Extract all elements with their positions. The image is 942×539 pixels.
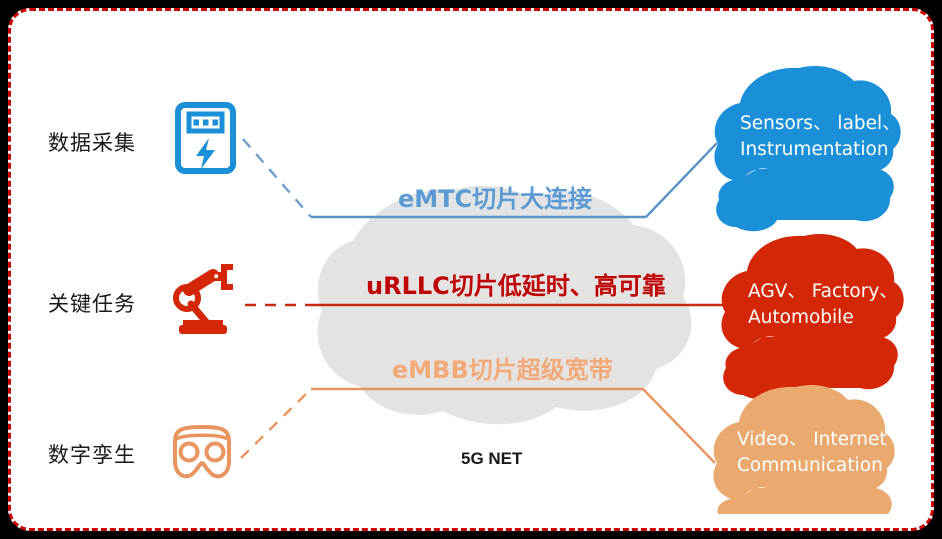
row-label-digital-twin: 数字孪生 [48, 439, 136, 469]
connector-angle-0 [646, 143, 717, 217]
slice-label-urllc: uRLLC切片低延时、高可靠 [366, 266, 666, 301]
lightning-bolt [196, 138, 215, 169]
center-network-label: 5G NET [461, 449, 522, 469]
cloud-text-sensors: Sensors、 label、 Instrumentation [740, 111, 920, 164]
robot-base [179, 325, 227, 334]
diagram-canvas: 数据采集 关键任务 数字孪生 [11, 11, 931, 528]
robot-upper-arm [189, 275, 213, 290]
meter-dot-3 [213, 120, 219, 126]
robot-joint-hole [215, 275, 219, 279]
cloud-text-agv: AGV、 Factory、 Automobile [748, 279, 928, 332]
meter-dot-1 [194, 120, 200, 126]
row-label-critical-task: 关键任务 [48, 288, 136, 318]
row-label-data-collection: 数据采集 [48, 127, 136, 157]
connector-dashed-0 [243, 139, 311, 217]
robot-arm-icon [169, 263, 241, 339]
slide-canvas: 数据采集 关键任务 数字孪生 [8, 8, 934, 531]
right-cloud-shape-0b [716, 169, 894, 231]
robot-gripper [224, 267, 233, 287]
vr-lens-left [181, 444, 198, 461]
meter-lightning-icon [171, 101, 243, 177]
slice-label-emtc: eMTC切片大连接 [398, 179, 592, 214]
vr-strap [176, 435, 228, 439]
cloud-text-video: Video、 Internet Communication [737, 427, 922, 480]
connector-dashed-2 [241, 389, 311, 458]
meter-dot-2 [203, 120, 209, 126]
slice-label-embb: eMBB切片超级宽带 [392, 350, 613, 385]
vr-headset-icon [163, 421, 235, 497]
connector-angle-2 [643, 389, 715, 463]
vr-lens-right [207, 444, 224, 461]
